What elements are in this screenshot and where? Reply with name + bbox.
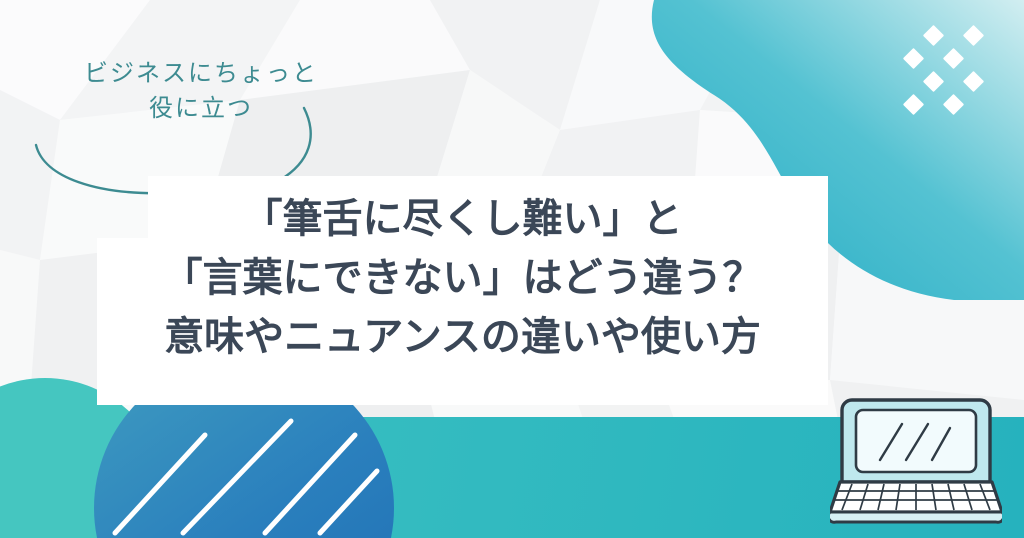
diamond-dot <box>943 48 964 69</box>
page-title: 「筆舌に尽くし難い」と 「言葉にできない」はどう違う？ 意味やニュアンスの違いや… <box>97 190 828 367</box>
catchcopy-line1: ビジネスにちょっと <box>84 59 318 87</box>
diamond-dot-grid <box>893 28 1003 116</box>
diagonal-stripes-decoration <box>105 413 445 538</box>
diamond-dot <box>903 94 924 115</box>
catchcopy-line2: 役に立つ <box>36 91 366 126</box>
diamond-dot <box>903 48 924 69</box>
diamond-dot <box>923 25 944 46</box>
title-line1: 「筆舌に尽くし難い」と <box>97 190 828 249</box>
eyecatch-banner: ビジネスにちょっと 役に立つ 「筆舌に尽くし難い」と 「言葉にできない」はどう違… <box>0 0 1024 538</box>
diamond-dot <box>943 94 964 115</box>
diamond-dot <box>963 25 984 46</box>
diamond-dot <box>923 71 944 92</box>
title-line3: 意味やニュアンスの違いや使い方 <box>97 308 828 367</box>
catchcopy: ビジネスにちょっと 役に立つ <box>36 56 366 126</box>
diamond-dot <box>963 71 984 92</box>
laptop-illustration <box>830 392 1002 532</box>
title-line2: 「言葉にできない」はどう違う？ <box>97 249 828 308</box>
